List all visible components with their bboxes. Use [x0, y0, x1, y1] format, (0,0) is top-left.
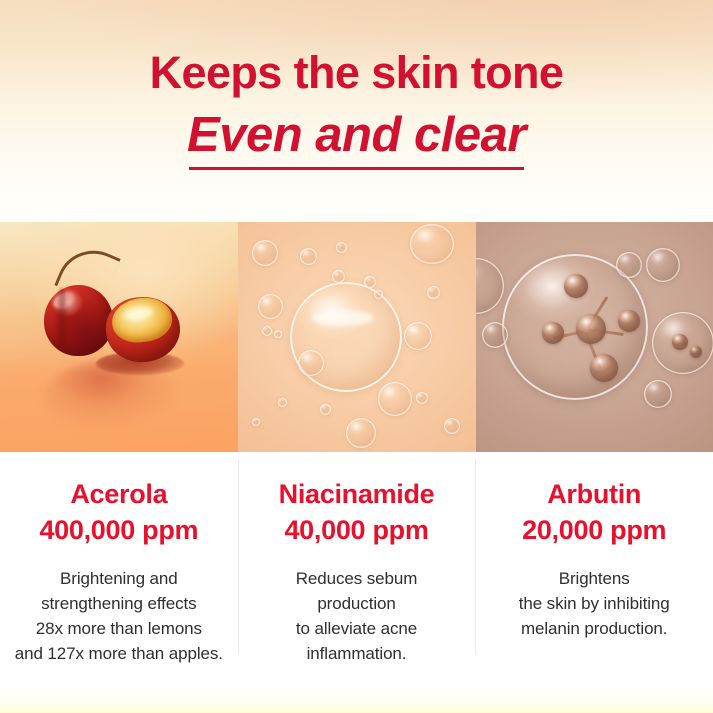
serum-bubble [278, 398, 287, 407]
molecule-bubble [616, 252, 642, 278]
serum-bubble [410, 224, 454, 264]
headline-line-2-wrap: Even and clear [181, 106, 532, 174]
serum-bubble [320, 404, 331, 415]
molecule-bubble [644, 380, 672, 408]
molecule-bubble [482, 322, 508, 348]
serum-bubble [262, 326, 272, 336]
molecule-atom [690, 346, 702, 358]
serum-bubble [300, 248, 317, 265]
serum-bubble [374, 290, 383, 299]
serum-bubble [336, 242, 347, 253]
serum-bubble [346, 418, 376, 448]
molecule-bubble [646, 248, 680, 282]
description-line: 28x more than lemons [10, 616, 228, 641]
ingredient-columns: Acerola 400,000 ppm Brightening and stre… [0, 452, 713, 684]
serum-bubble [444, 418, 460, 434]
molecule-atom [672, 334, 688, 350]
serum-bubble [332, 270, 345, 283]
niacinamide-photo [238, 222, 476, 452]
description-line: the skin by inhibiting [485, 591, 703, 616]
ingredient-name: Acerola [10, 478, 228, 511]
description-line: strengthening effects [10, 591, 228, 616]
bottom-glow [0, 687, 713, 713]
serum-bubble [252, 418, 260, 426]
serum-bubble [378, 382, 412, 416]
description-line: Reduces sebum [248, 566, 466, 591]
description-line: and 127x more than apples. [10, 641, 228, 666]
serum-bubble [364, 276, 376, 288]
header-banner: Keeps the skin tone Even and clear [0, 0, 713, 222]
molecule-atom [590, 354, 618, 382]
serum-bubble [404, 322, 432, 350]
molecule-atom-center [576, 314, 606, 344]
ingredient-name: Arbutin [485, 478, 703, 511]
serum-bubble [427, 286, 440, 299]
ingredient-description: Brightens the skin by inhibiting melanin… [485, 566, 703, 641]
description-line: to alleviate acne [248, 616, 466, 641]
ingredient-description: Brightening and strengthening effects 28… [10, 566, 228, 666]
serum-bubble [258, 294, 283, 319]
acerola-photo [0, 222, 238, 452]
ingredient-name: Niacinamide [248, 478, 466, 511]
ingredient-amount: 40,000 ppm [248, 514, 466, 547]
arbutin-photo [476, 222, 713, 452]
headline-line-1: Keeps the skin tone [0, 0, 713, 100]
molecule-bubble [476, 258, 504, 314]
acerola-crease [55, 288, 69, 350]
image-band [0, 222, 713, 452]
ingredient-column-arbutin: Arbutin 20,000 ppm Brightens the skin by… [475, 452, 713, 684]
description-line: production [248, 591, 466, 616]
ingredient-column-niacinamide: Niacinamide 40,000 ppm Reduces sebum pro… [238, 452, 476, 684]
serum-bubble [298, 350, 324, 376]
description-line: inflammation. [248, 641, 466, 666]
molecule-atom [564, 274, 588, 298]
ingredient-column-acerola: Acerola 400,000 ppm Brightening and stre… [0, 452, 238, 684]
ingredient-description: Reduces sebum production to alleviate ac… [248, 566, 466, 666]
ingredient-amount: 400,000 ppm [10, 514, 228, 547]
serum-bubble [252, 240, 278, 266]
ingredient-infographic: Keeps the skin tone Even and clear [0, 0, 713, 713]
molecule-atom [542, 322, 564, 344]
ingredient-amount: 20,000 ppm [485, 514, 703, 547]
serum-bubble [416, 392, 428, 404]
serum-bubble [274, 330, 282, 338]
headline-block: Keeps the skin tone Even and clear [0, 0, 713, 174]
description-line: Brightens [485, 566, 703, 591]
description-line: melanin production. [485, 616, 703, 641]
headline-underline [189, 167, 524, 170]
headline-line-2: Even and clear [187, 106, 526, 164]
molecule-atom [618, 310, 640, 332]
description-line: Brightening and [10, 566, 228, 591]
